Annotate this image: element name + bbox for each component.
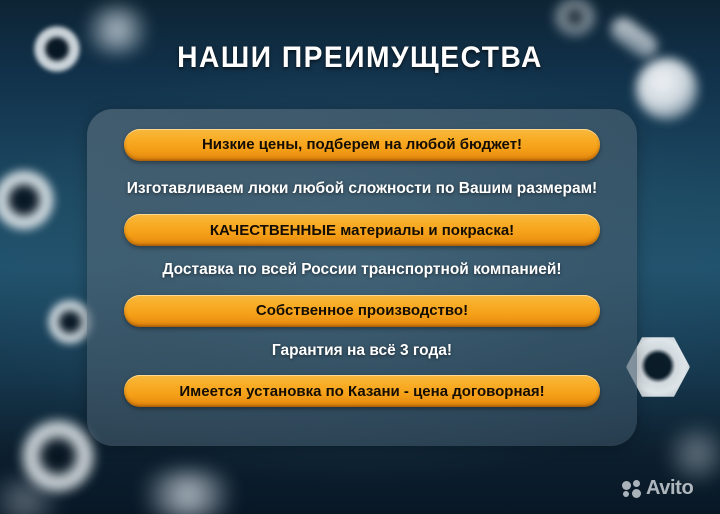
benefit-row: Собственное производство!	[87, 295, 637, 327]
blur-blob-icon	[128, 470, 248, 514]
benefit-row: Низкие цены, подберем на любой бюджет!	[87, 129, 637, 161]
benefit-row: Гарантия на всё 3 года!	[87, 341, 637, 361]
washer-icon	[0, 170, 54, 230]
nut-icon	[556, 0, 594, 34]
benefit-row: КАЧЕСТВЕННЫЕ материалы и покраска!	[87, 214, 637, 246]
benefit-text-warranty: Гарантия на всё 3 года!	[112, 341, 612, 361]
promo-banner: НАШИ ПРЕИМУЩЕСТВА Низкие цены, подберем …	[0, 0, 720, 514]
benefits-panel: Низкие цены, подберем на любой бюджет! И…	[87, 109, 637, 446]
avito-brand-label: Avito	[646, 477, 693, 500]
blur-blob-icon	[0, 478, 70, 514]
benefit-row: Изготавливаем люки любой сложности по Ва…	[87, 179, 637, 199]
avito-watermark: Avito	[622, 477, 693, 500]
benefit-text-custom-sizes: Изготавливаем люки любой сложности по Ва…	[112, 179, 612, 199]
benefit-text-delivery: Доставка по всей России транспортной ком…	[112, 260, 612, 280]
benefit-row: Имеется установка по Казани - цена догов…	[87, 375, 637, 407]
nut-icon	[48, 300, 92, 344]
benefit-row: Доставка по всей России транспортной ком…	[87, 260, 637, 280]
page-title: НАШИ ПРЕИМУЩЕСТВА	[22, 41, 699, 75]
washer-icon	[22, 420, 94, 492]
blur-blob-icon	[662, 424, 720, 484]
avito-dots-icon	[622, 480, 642, 498]
benefit-pill-own-production[interactable]: Собственное производство!	[124, 295, 600, 327]
benefit-pill-installation-kazan[interactable]: Имеется установка по Казани - цена догов…	[124, 375, 600, 407]
benefit-pill-low-prices[interactable]: Низкие цены, подберем на любой бюджет!	[124, 129, 600, 161]
benefit-pill-quality-materials[interactable]: КАЧЕСТВЕННЫЕ материалы и покраска!	[124, 214, 600, 246]
